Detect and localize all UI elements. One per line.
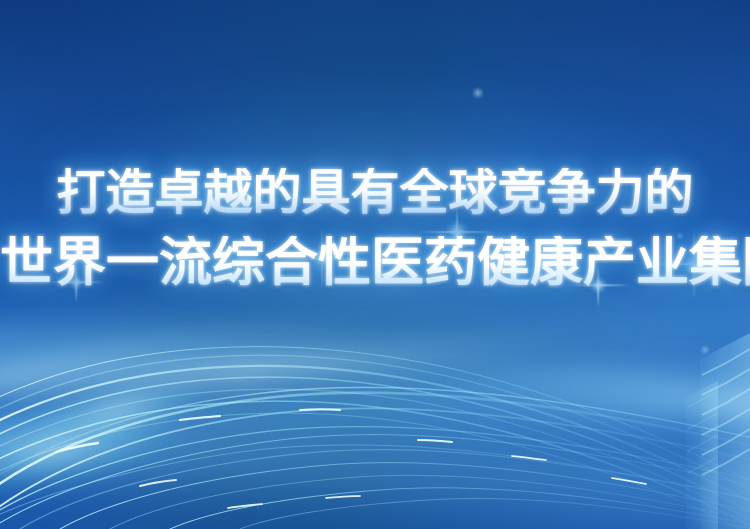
slogan-line-2: 世界一流综合性医药健康产业集团 (0, 236, 750, 289)
slogan-line-1: 打造卓越的具有全球竞争力的 (0, 168, 750, 217)
slogan-text-block: 打造卓越的具有全球竞争力的 世界一流综合性医药健康产业集团 (0, 168, 750, 289)
slogan-banner: 打造卓越的具有全球竞争力的 世界一流综合性医药健康产业集团 (0, 0, 750, 529)
